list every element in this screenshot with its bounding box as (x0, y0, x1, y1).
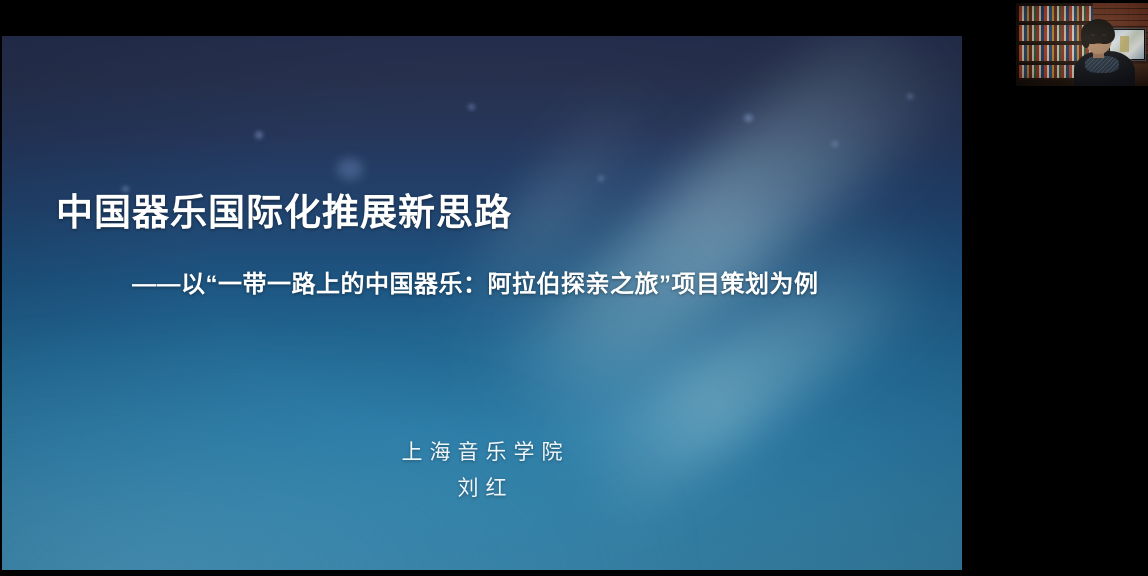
webcam-scene (1016, 3, 1148, 86)
slide-subtitle: ——以“一带一路上的中国器乐：阿拉伯探亲之旅”项目策划为例 (132, 264, 819, 299)
app-window: 中国器乐国际化推展新思路 ——以“一带一路上的中国器乐：阿拉伯探亲之旅”项目策划… (0, 0, 1148, 576)
slide-title: 中国器乐国际化推展新思路 (56, 193, 512, 234)
presenter-hair-side (1081, 25, 1090, 48)
presentation-slide[interactable]: 中国器乐国际化推展新思路 ——以“一带一路上的中国器乐：阿拉伯探亲之旅”项目策划… (2, 36, 962, 570)
book-spines (1019, 6, 1093, 21)
participant-video-thumbnail[interactable] (1016, 3, 1148, 86)
slide-text-layer: 中国器乐国际化推展新思路 ——以“一带一路上的中国器乐：阿拉伯探亲之旅”项目策划… (2, 36, 962, 570)
shelf-board (1019, 21, 1093, 23)
slide-organization: 上海音乐学院 (2, 436, 962, 466)
presenter-scarf (1085, 56, 1119, 73)
bookshelf-row (1019, 6, 1093, 23)
slide-author: 刘红 (2, 472, 962, 502)
